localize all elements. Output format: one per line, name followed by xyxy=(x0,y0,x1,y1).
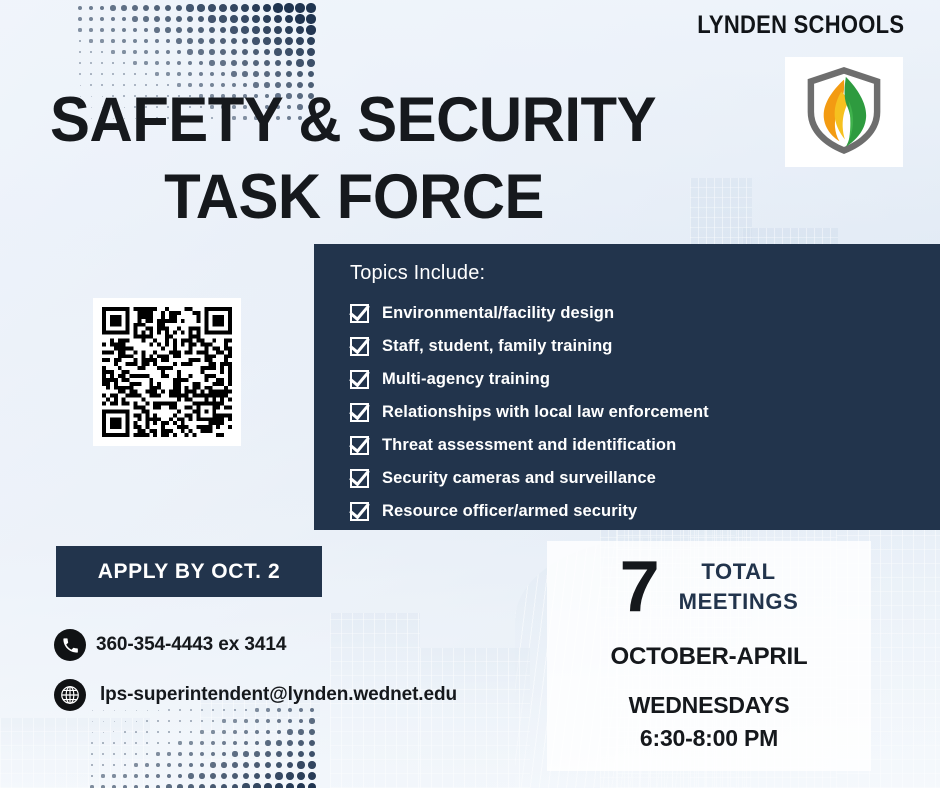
globe-icon xyxy=(54,679,86,711)
checkbox-checked-icon xyxy=(350,502,369,521)
halftone-dots-bottom-left xyxy=(0,700,320,788)
meetings-card: 7 TOTAL MEETINGS OCTOBER-APRIL WEDNESDAY… xyxy=(547,541,871,771)
topic-label: Relationships with local law enforcement xyxy=(382,403,709,422)
topic-label: Threat assessment and identification xyxy=(382,436,676,455)
topic-label: Resource officer/armed security xyxy=(382,502,637,521)
topics-panel: Topics Include: Environmental/facility d… xyxy=(314,244,940,530)
topic-item: Staff, student, family training xyxy=(350,330,940,363)
poster-canvas: LYNDEN SCHOOLS SAFETY & SECURITY TASK FO… xyxy=(0,0,940,788)
meetings-count-row: 7 TOTAL MEETINGS xyxy=(547,541,871,623)
checkbox-checked-icon xyxy=(350,436,369,455)
qr-code-icon xyxy=(102,307,232,437)
checkbox-checked-icon xyxy=(350,469,369,488)
checkbox-checked-icon xyxy=(350,337,369,356)
shield-flame-logo-icon xyxy=(798,64,890,161)
topic-item: Environmental/facility design xyxy=(350,297,940,330)
qr-code[interactable] xyxy=(93,298,241,446)
phone-number: 360-354-4443 ex 3414 xyxy=(96,634,286,656)
title-line-2: TASK FORCE xyxy=(50,159,658,236)
phone-icon xyxy=(54,629,86,661)
meetings-total-line-2: MEETINGS xyxy=(679,587,799,617)
checkbox-checked-icon xyxy=(350,370,369,389)
email-address: lps-superintendent@lynden.wednet.edu xyxy=(100,684,457,706)
topic-item: Multi-agency training xyxy=(350,363,940,396)
meetings-total-line-1: TOTAL xyxy=(679,557,799,587)
topic-label: Multi-agency training xyxy=(382,370,550,389)
topic-item: Security cameras and surveillance xyxy=(350,462,940,495)
meetings-total-label: TOTAL MEETINGS xyxy=(679,557,799,617)
topics-heading: Topics Include: xyxy=(350,262,940,285)
apply-button[interactable]: APPLY BY OCT. 2 xyxy=(56,546,322,597)
checkbox-checked-icon xyxy=(350,403,369,422)
meetings-day: WEDNESDAYS xyxy=(547,692,871,719)
topic-item: Relationships with local law enforcement xyxy=(350,396,940,429)
meetings-months: OCTOBER-APRIL xyxy=(547,643,871,671)
topic-label: Security cameras and surveillance xyxy=(382,469,656,488)
contact-email[interactable]: lps-superintendent@lynden.wednet.edu xyxy=(54,679,457,711)
meetings-time: 6:30-8:00 PM xyxy=(547,725,871,752)
page-title: SAFETY & SECURITY TASK FORCE xyxy=(50,82,658,236)
contact-phone[interactable]: 360-354-4443 ex 3414 xyxy=(54,629,286,661)
checkbox-checked-icon xyxy=(350,304,369,323)
topics-list: Environmental/facility designStaff, stud… xyxy=(350,297,940,528)
topic-item: Resource officer/armed security xyxy=(350,495,940,528)
topic-item: Threat assessment and identification xyxy=(350,429,940,462)
lynden-schools-logo xyxy=(785,57,903,167)
topic-label: Environmental/facility design xyxy=(382,304,614,323)
topic-label: Staff, student, family training xyxy=(382,337,612,356)
meetings-count: 7 xyxy=(620,551,659,623)
brand-title: LYNDEN SCHOOLS xyxy=(697,11,904,40)
title-line-1: SAFETY & SECURITY xyxy=(50,82,658,159)
